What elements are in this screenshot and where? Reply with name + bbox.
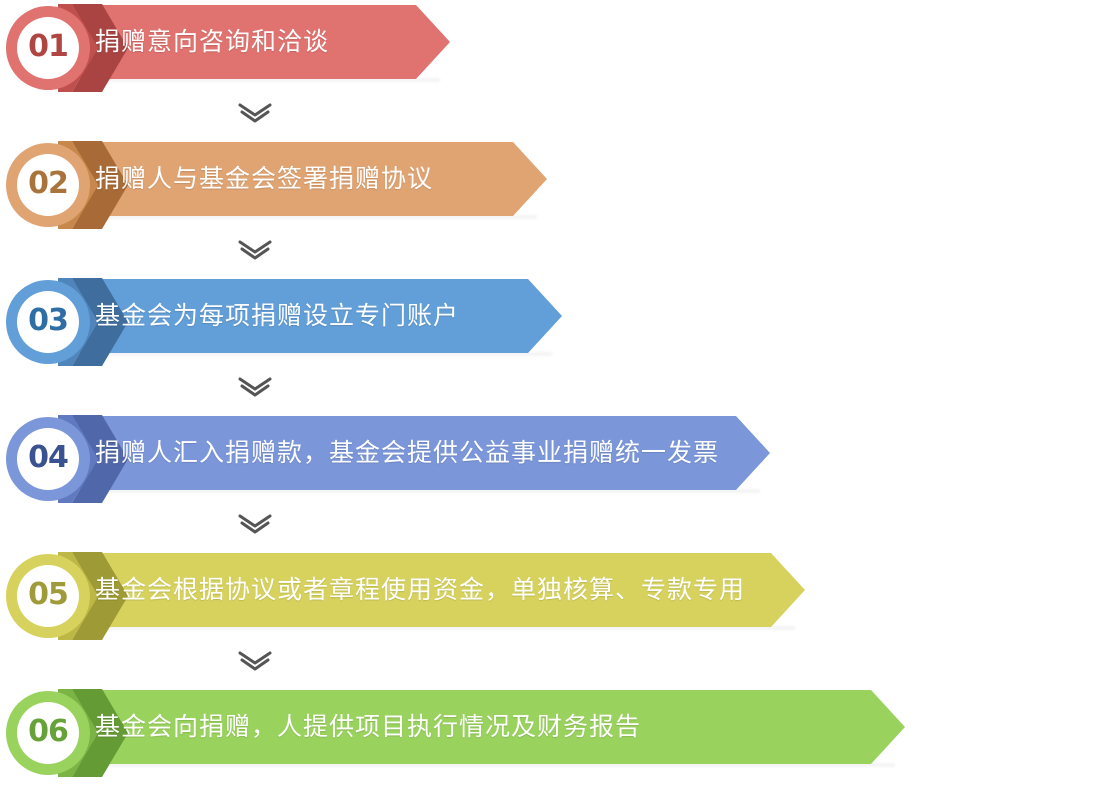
- double-chevron-down-icon: [232, 370, 278, 404]
- step-label: 基金会根据协议或者章程使用资金，单独核算、专款专用: [95, 553, 745, 627]
- step-number-text: 05: [28, 580, 68, 610]
- step-number-text: 04: [28, 443, 68, 473]
- double-chevron-down-icon: [232, 507, 278, 541]
- step-label: 捐赠人与基金会签署捐赠协议: [95, 142, 433, 216]
- step-number-text: 01: [28, 32, 68, 62]
- step-number-badge[interactable]: 03: [6, 280, 90, 364]
- step-number-badge[interactable]: 05: [6, 554, 90, 638]
- step-number-badge-inner: 05: [17, 565, 79, 627]
- step-number-badge[interactable]: 06: [6, 691, 90, 775]
- double-chevron-down-icon: [232, 644, 278, 678]
- step-label: 基金会向捐赠，人提供项目执行情况及财务报告: [95, 690, 641, 764]
- step-number-badge[interactable]: 01: [6, 6, 90, 90]
- step-number-text: 03: [28, 306, 68, 336]
- step-number-badge-inner: 01: [17, 17, 79, 79]
- step-number-badge-inner: 06: [17, 702, 79, 764]
- step-number-badge[interactable]: 04: [6, 417, 90, 501]
- step-number-badge-inner: 02: [17, 154, 79, 216]
- step-number-badge[interactable]: 02: [6, 143, 90, 227]
- step-number-badge-inner: 03: [17, 291, 79, 353]
- step-label: 捐赠意向咨询和洽谈: [95, 5, 329, 79]
- step-label: 捐赠人汇入捐赠款，基金会提供公益事业捐赠统一发票: [95, 416, 719, 490]
- double-chevron-down-icon: [232, 96, 278, 130]
- step-label: 基金会为每项捐赠设立专门账户: [95, 279, 459, 353]
- step-number-badge-inner: 04: [17, 428, 79, 490]
- step-number-text: 02: [28, 169, 68, 199]
- donation-process-flowchart: 01捐赠意向咨询和洽谈02捐赠人与基金会签署捐赠协议03基金会为每项捐赠设立专门…: [0, 0, 1120, 781]
- step-number-text: 06: [28, 717, 68, 747]
- double-chevron-down-icon: [232, 233, 278, 267]
